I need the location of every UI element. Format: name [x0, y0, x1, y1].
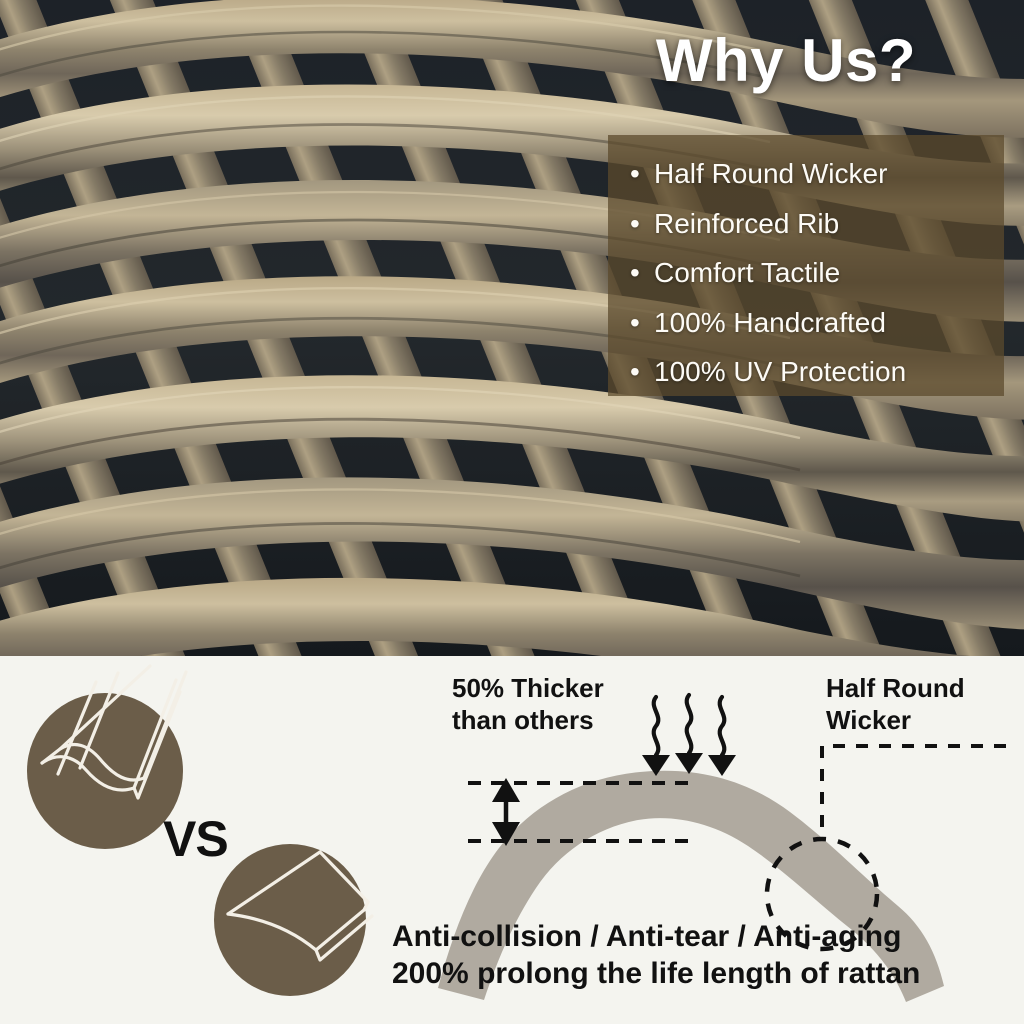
list-item: Reinforced Rib: [630, 199, 1004, 249]
flat-wicker-profile-icon: [214, 844, 372, 996]
pressure-arrowheads-icon: [642, 753, 736, 776]
wicker-callout-line2: Wicker: [826, 704, 965, 736]
list-item: 100% Handcrafted: [630, 298, 1004, 348]
benefits-panel: Half Round Wicker Reinforced Rib Comfort…: [608, 135, 1004, 396]
thickness-label-line2: than others: [452, 704, 604, 736]
page-title: Why Us?: [560, 26, 1012, 95]
wicker-callout-line1: Half Round: [826, 672, 965, 704]
product-infographic: Why Us? Half Round Wicker Reinforced Rib…: [0, 0, 1024, 1024]
rattan-weave-photo: Why Us? Half Round Wicker Reinforced Rib…: [0, 0, 1024, 656]
list-item: Half Round Wicker: [630, 149, 1004, 199]
tagline-primary: Anti-collision / Anti-tear / Anti-aging: [392, 920, 901, 954]
pressure-arrows-icon: [654, 695, 725, 755]
list-item: Comfort Tactile: [630, 248, 1004, 298]
tagline-secondary: 200% prolong the life length of rattan: [392, 957, 920, 991]
vs-label: VS: [163, 810, 228, 868]
list-item: 100% UV Protection: [630, 347, 1004, 397]
wicker-callout-leader: [822, 746, 1006, 840]
thickness-label: 50% Thicker than others: [452, 672, 604, 736]
wicker-callout-label: Half Round Wicker: [826, 672, 965, 736]
thickness-label-line1: 50% Thicker: [452, 672, 604, 704]
benefits-list: Half Round Wicker Reinforced Rib Comfort…: [608, 135, 1004, 397]
